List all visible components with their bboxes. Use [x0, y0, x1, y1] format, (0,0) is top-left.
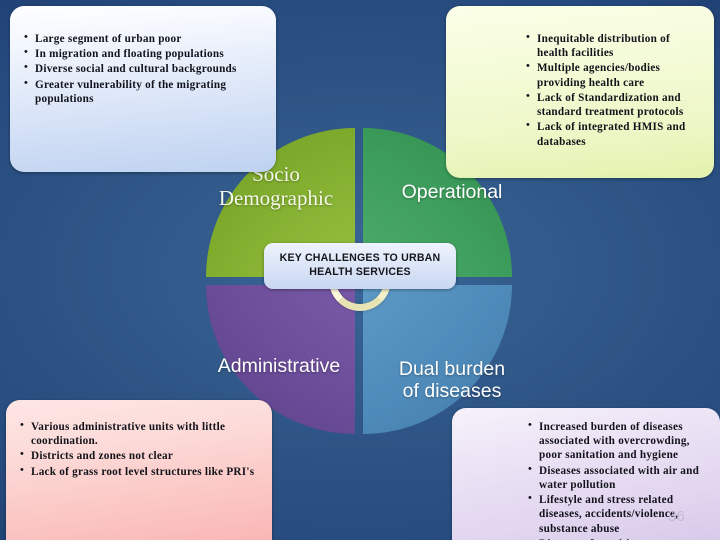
slide-number: 36 [668, 508, 685, 525]
list-item: Districts and zones not clear [20, 449, 260, 463]
note-box-socio-demographic: Large segment of urban poor In migration… [10, 6, 276, 172]
note-box-administrative: Various administrative units with little… [6, 400, 272, 540]
center-title-text: KEY CHALLENGES TO URBAN HEALTH SERVICES [280, 252, 441, 280]
list-item: Increased burden of diseases associated … [528, 420, 708, 463]
list-item: Diseases associated with air and water p… [528, 464, 708, 492]
list-item: In migration and floating populations [24, 47, 264, 61]
list-item: Various administrative units with little… [20, 420, 260, 448]
list-item: Lack of grass root level structures like… [20, 465, 260, 479]
list-item: Large segment of urban poor [24, 32, 264, 46]
note-list-socio-demographic: Large segment of urban poor In migration… [24, 32, 264, 106]
center-title-box: KEY CHALLENGES TO URBAN HEALTH SERVICES [264, 243, 456, 289]
note-box-operational: Inequitable distribution of health facil… [446, 6, 714, 178]
list-item: Lack of Standardization and standard tre… [526, 91, 702, 119]
note-list-administrative: Various administrative units with little… [20, 420, 260, 479]
list-item: Greater vulnerability of the migrating p… [24, 78, 264, 106]
note-list-operational: Inequitable distribution of health facil… [526, 32, 702, 149]
list-item: Diverse social and cultural backgrounds [24, 62, 264, 76]
center-title-line2: HEALTH SERVICES [280, 266, 441, 280]
slide-canvas: Large segment of urban poor In migration… [0, 0, 720, 540]
list-item: Multiple agencies/bodies providing healt… [526, 61, 702, 89]
center-title-line1: KEY CHALLENGES TO URBAN [280, 252, 441, 266]
list-item: Inequitable distribution of health facil… [526, 32, 702, 60]
list-item: Lack of integrated HMIS and databases [526, 120, 702, 148]
